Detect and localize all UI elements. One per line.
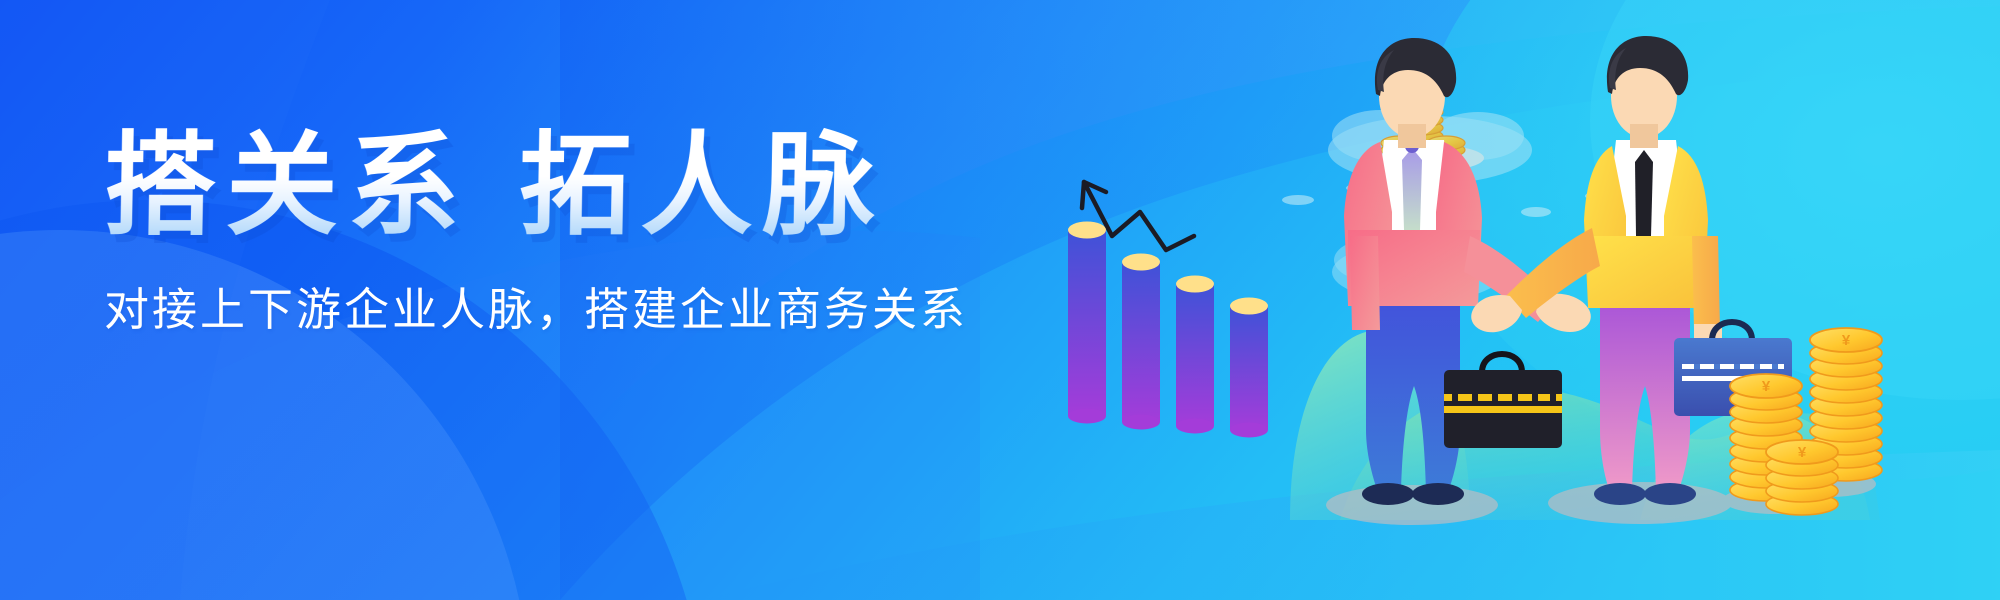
neck-left-person [1398,124,1426,148]
svg-text:¥: ¥ [1798,444,1807,461]
bar-3 [1176,276,1214,434]
bar-4 [1230,298,1268,438]
shoe-left [1362,483,1414,505]
briefcase-black [1444,354,1562,448]
illustration-handshake: ¥ ¥ [1040,0,2000,600]
illustration-svg: ¥ ¥ [1040,0,2000,600]
tie-left-person [1402,148,1422,242]
vest-body-right-person [1588,236,1706,308]
shoe-right-right-person [1644,483,1696,505]
neck-right-person [1630,124,1658,148]
arm-case-left-person [1350,236,1380,330]
svg-text:¥: ¥ [1842,332,1851,349]
shoe-right [1412,483,1464,505]
svg-text:¥: ¥ [1762,378,1771,395]
bar-1 [1068,222,1106,424]
coin-stack-short: ¥ [1766,440,1838,515]
bar-chart-cylinders [1068,222,1268,438]
shoe-left-right-person [1594,483,1646,505]
arm-case-right-person [1692,236,1720,330]
page-subtitle: 对接上下游企业人脉，搭建企业商务关系 [104,273,1004,338]
bar-2 [1122,254,1160,430]
page-title: 搭关系 拓人脉 [103,126,1005,247]
tie-right-person [1635,150,1653,248]
promo-banner: ¥ ¥ [0,0,2000,600]
banner-text-block: 搭关系 拓人脉 对接上下游企业人脉，搭建企业商务关系 [104,126,1004,338]
